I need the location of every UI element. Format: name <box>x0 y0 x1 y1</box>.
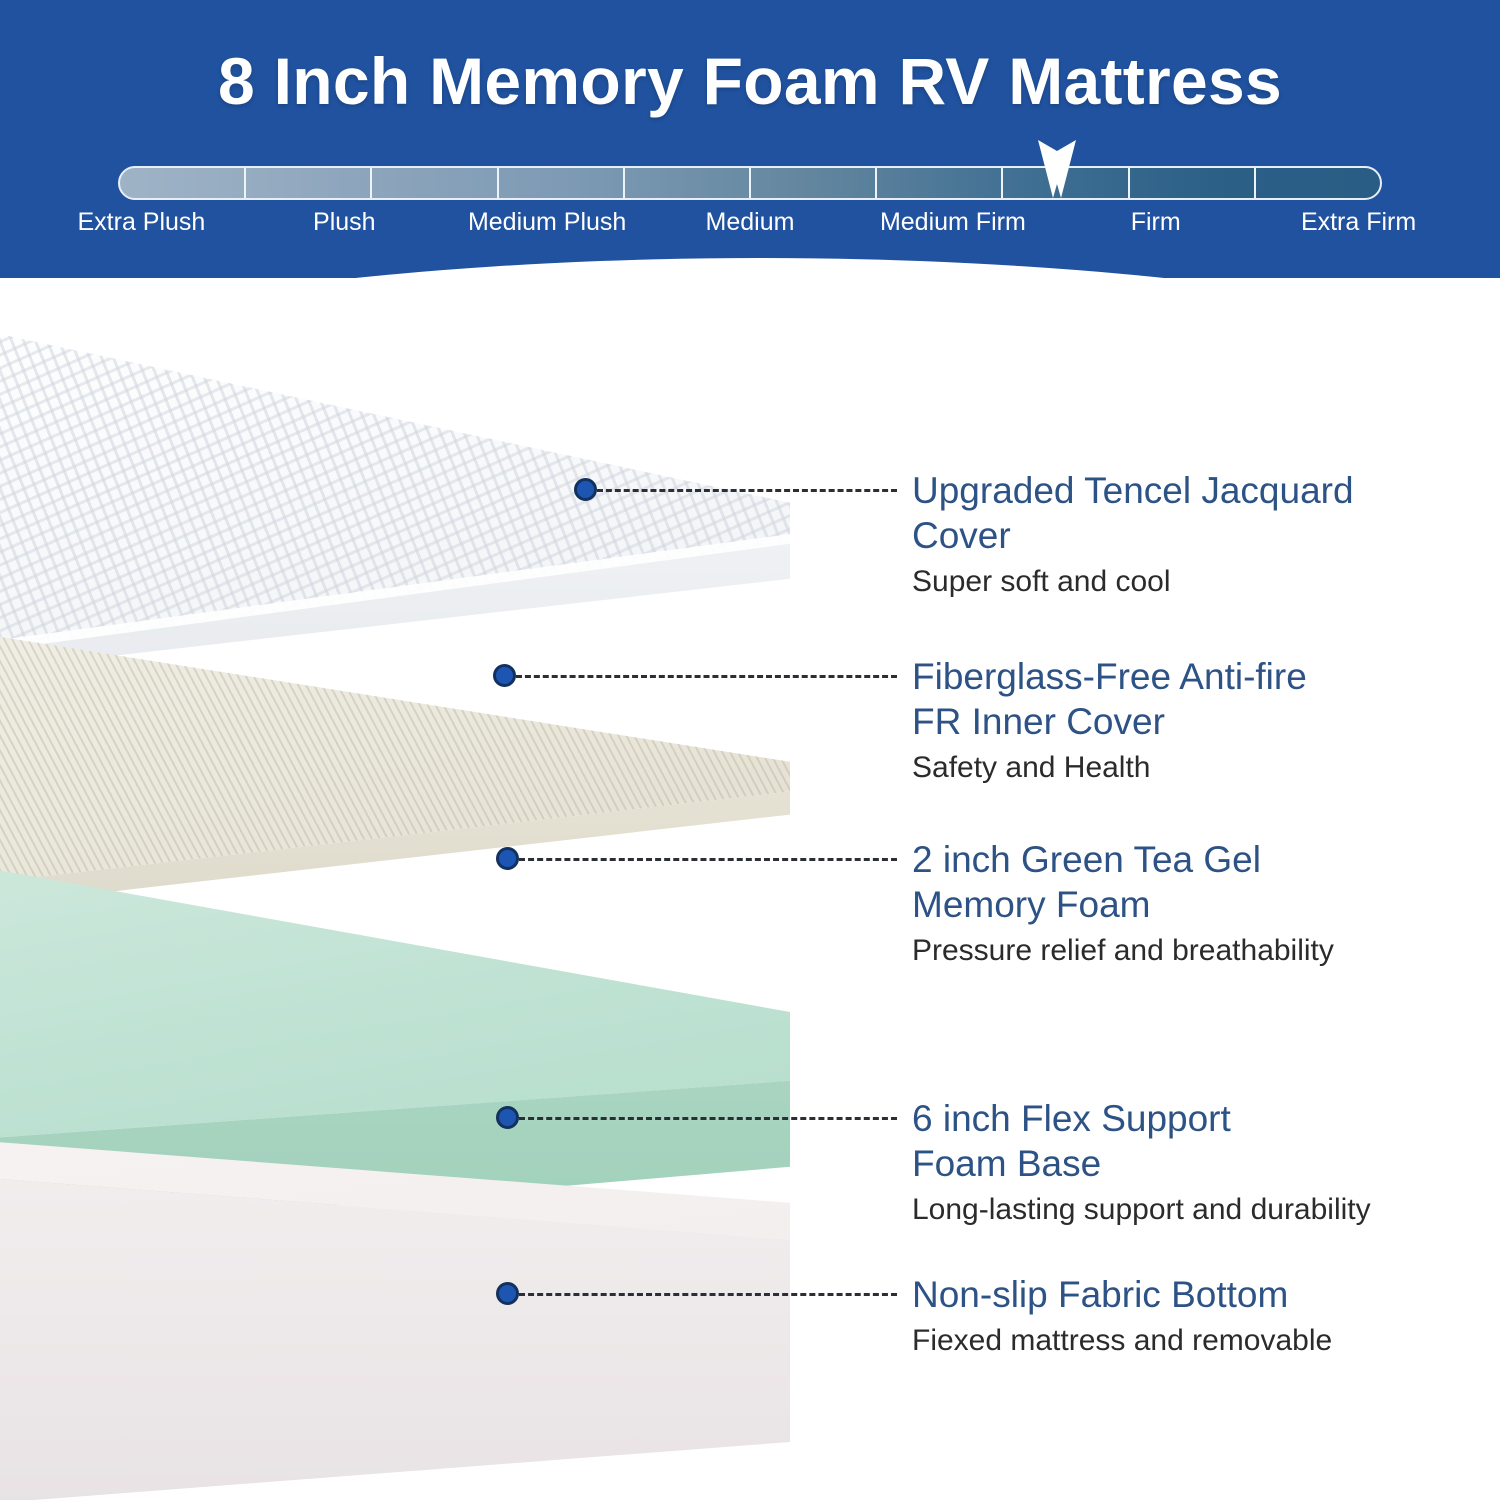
callout-leader-line <box>516 675 897 678</box>
callout-subtitle: Pressure relief and breathability <box>912 931 1472 971</box>
firmness-segment[interactable] <box>246 168 372 198</box>
firmness-label-medium: Medium <box>649 206 852 286</box>
callout-subtitle: Safety and Health <box>912 748 1452 788</box>
firmness-scale <box>118 166 1382 200</box>
mattress-layer-illustration <box>0 280 790 1500</box>
firmness-segment[interactable] <box>499 168 625 198</box>
callout-subtitle: Fiexed mattress and removable <box>912 1321 1472 1361</box>
callout-dot[interactable] <box>493 664 516 687</box>
firmness-segment[interactable] <box>372 168 498 198</box>
firmness-label-extra-firm: Extra Firm <box>1257 206 1460 286</box>
firmness-pointer-icon <box>1036 138 1078 200</box>
callout-leader-line <box>519 1117 897 1120</box>
firmness-segment[interactable] <box>877 168 1003 198</box>
firmness-scale-bar[interactable] <box>118 166 1382 200</box>
firmness-label-firm: Firm <box>1054 206 1257 286</box>
infographic-canvas: 8 Inch Memory Foam RV Mattress Extra Plu… <box>0 0 1500 1500</box>
callout-leader-line <box>519 858 897 861</box>
callout-dot[interactable] <box>574 478 597 501</box>
callout-title: 6 inch Flex Support Foam Base <box>912 1096 1472 1186</box>
callout-title: Fiberglass-Free Anti-fire FR Inner Cover <box>912 654 1452 744</box>
layer-art-non-slip-bottom <box>0 1425 790 1500</box>
firmness-segment[interactable] <box>751 168 877 198</box>
firmness-segment[interactable] <box>625 168 751 198</box>
callout-leader-line <box>519 1293 897 1296</box>
callout-dot[interactable] <box>496 847 519 870</box>
firmness-segment[interactable] <box>120 168 246 198</box>
callout-subtitle: Super soft and cool <box>912 562 1452 602</box>
callout-title: 2 inch Green Tea Gel Memory Foam <box>912 837 1472 927</box>
firmness-label-medium-firm: Medium Firm <box>851 206 1054 286</box>
callout-dot[interactable] <box>496 1106 519 1129</box>
page-title: 8 Inch Memory Foam RV Mattress <box>0 48 1500 114</box>
callout-title: Non-slip Fabric Bottom <box>912 1272 1472 1317</box>
callout-subtitle: Long-lasting support and durability <box>912 1190 1472 1230</box>
firmness-label-plush: Plush <box>243 206 446 286</box>
callout-leader-line <box>597 489 897 492</box>
firmness-label-medium-plush: Medium Plush <box>446 206 649 286</box>
callout-dot[interactable] <box>496 1282 519 1305</box>
callout-title: Upgraded Tencel Jacquard Cover <box>912 468 1452 558</box>
firmness-segment[interactable] <box>1256 168 1380 198</box>
firmness-scale-labels: Extra Plush Plush Medium Plush Medium Me… <box>40 206 1460 286</box>
firmness-label-extra-plush: Extra Plush <box>40 206 243 286</box>
header-band: 8 Inch Memory Foam RV Mattress Extra Plu… <box>0 0 1500 300</box>
firmness-segment[interactable] <box>1130 168 1256 198</box>
